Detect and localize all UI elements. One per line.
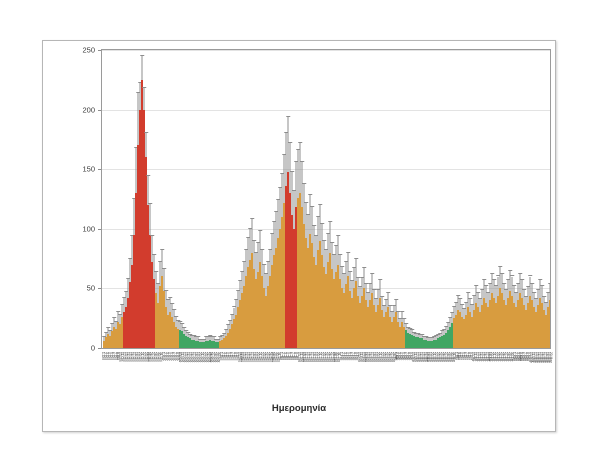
chart-screenshot: Σχετικός Ρυθμός Έκκρισης Ιικού Φορτίου 0… [0, 0, 600, 464]
y-axis-tick-label: 200 [51, 105, 95, 114]
error-bar-cap [550, 289, 551, 290]
bar-series [102, 50, 550, 348]
bar [549, 300, 551, 348]
y-axis-tick-mark [98, 169, 101, 170]
gridline [102, 348, 550, 349]
plot-area [101, 49, 551, 349]
y-axis-tick-label: 150 [51, 165, 95, 174]
y-axis-tick-mark [98, 50, 101, 51]
chart-frame: Σχετικός Ρυθμός Έκκρισης Ιικού Φορτίου 0… [42, 40, 556, 432]
y-axis-tick-mark [98, 288, 101, 289]
x-axis-title: Ημερομηνία [43, 403, 555, 414]
x-axis-tick: 20-May [550, 351, 552, 397]
y-axis-tick-mark [98, 110, 101, 111]
y-axis-tick-label: 100 [51, 224, 95, 233]
x-axis-tick-labels: 1-Oct2-Oct3-Oct4-Oct5-Oct6-Oct7-Oct8-Oct… [101, 351, 551, 397]
error-bar [550, 284, 551, 301]
x-axis-tick-label: 20-May [549, 352, 553, 363]
bar-column [549, 50, 551, 348]
y-axis-tick-label: 250 [51, 46, 95, 55]
y-axis-tick-label: 50 [51, 284, 95, 293]
y-axis-tick-mark [98, 229, 101, 230]
y-axis-tick-label: 0 [51, 344, 95, 353]
y-axis-tick-mark [98, 348, 101, 349]
error-bar-cap [548, 283, 551, 284]
